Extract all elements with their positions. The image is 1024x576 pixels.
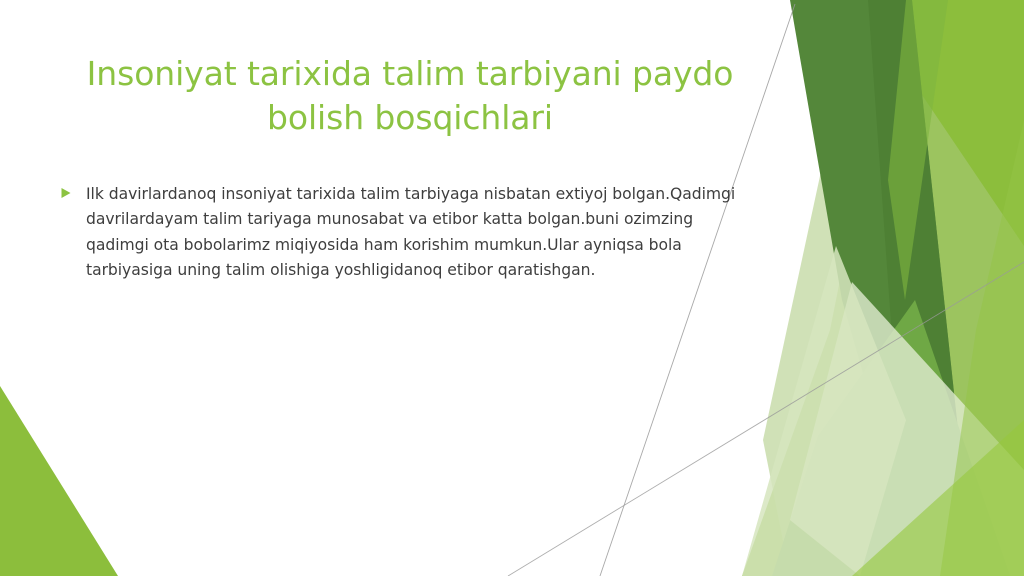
page-title: Insoniyat tarixida talim tarbiyani paydo… <box>60 52 760 139</box>
decor-mid-green-lower-wedge <box>772 300 1010 576</box>
decor-bright-right-band <box>742 0 1024 576</box>
decor-palest-wedge-lower <box>790 282 1024 576</box>
presentation-slide: Insoniyat tarixida talim tarbiyani paydo… <box>0 0 1024 576</box>
bullet-paragraph: Ilk davirlardanoq insoniyat tarixida tal… <box>86 182 740 283</box>
decor-light-sliver <box>888 0 948 300</box>
decor-bottom-left-accent <box>0 386 118 576</box>
decor-dark-wedge <box>790 0 958 520</box>
decor-pale-wedge <box>763 0 1024 576</box>
decor-pale-narrow-wedge <box>742 246 906 576</box>
decor-bottom-bright-toe <box>852 420 1024 576</box>
triangle-right-icon <box>60 182 86 199</box>
decor-hairline-lower <box>508 262 1024 576</box>
content-placeholder: Ilk davirlardanoq insoniyat tarixida tal… <box>60 182 740 283</box>
decor-dark-wedge-shade <box>868 0 958 520</box>
title-placeholder: Insoniyat tarixida talim tarbiyani paydo… <box>60 52 760 139</box>
decor-bright-highlight <box>940 120 1024 576</box>
